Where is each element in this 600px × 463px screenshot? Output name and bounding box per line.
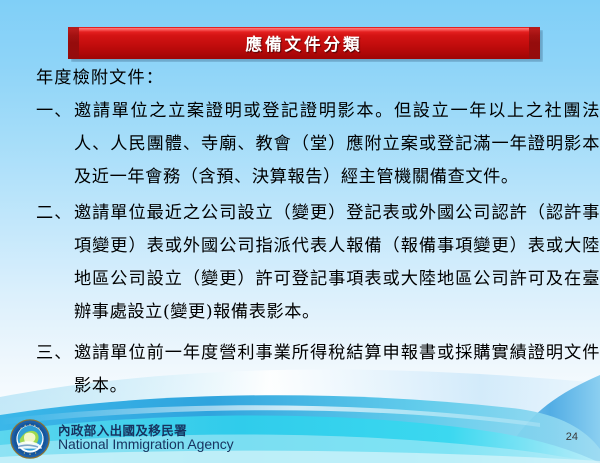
list-item: 三、 邀請單位前一年度營利事業所得稅結算申報書或採購實績證明文件影本。 bbox=[36, 337, 600, 403]
agency-emblem-icon bbox=[10, 419, 50, 459]
banner-right-bevel bbox=[529, 27, 540, 59]
list-item-text: 邀請單位之立案證明或登記證明影本。但設立一年以上之社團法人、人民團體、寺廟、教會… bbox=[74, 95, 600, 194]
page-title: 應備文件分類 bbox=[246, 31, 363, 55]
list-item-marker: 三、 bbox=[36, 337, 72, 370]
list-item-text: 邀請單位前一年度營利事業所得稅結算申報書或採購實績證明文件影本。 bbox=[74, 337, 600, 403]
list-item-text: 邀請單位最近之公司設立（變更）登記表或外國公司認許（認許事項變更）表或外國公司指… bbox=[74, 197, 600, 329]
page-number: 24 bbox=[566, 431, 578, 443]
agency-name-block: 內政部入出國及移民署 National Immigration Agency bbox=[58, 424, 234, 455]
body-lead: 年度檢附文件： bbox=[36, 62, 600, 95]
list-item-marker: 二、 bbox=[36, 197, 72, 230]
banner-left-bevel bbox=[68, 27, 79, 59]
spacer bbox=[0, 329, 600, 337]
agency-name-en: National Immigration Agency bbox=[58, 437, 234, 452]
banner-body: 應備文件分類 bbox=[68, 27, 540, 59]
slide-body: 年度檢附文件： 一、 邀請單位之立案證明或登記證明影本。但設立一年以上之社團法人… bbox=[0, 62, 600, 403]
footer: 內政部入出國及移民署 National Immigration Agency bbox=[10, 419, 234, 459]
slide-canvas: 應備文件分類 年度檢附文件： 一、 邀請單位之立案證明或登記證明影本。但設立一年… bbox=[0, 0, 600, 463]
list-item: 二、 邀請單位最近之公司設立（變更）登記表或外國公司認許（認許事項變更）表或外國… bbox=[36, 197, 600, 329]
agency-name-zh: 內政部入出國及移民署 bbox=[58, 424, 234, 438]
slide-title-banner: 應備文件分類 bbox=[68, 27, 540, 59]
list-item-marker: 一、 bbox=[36, 95, 72, 128]
list-item: 一、 邀請單位之立案證明或登記證明影本。但設立一年以上之社團法人、人民團體、寺廟… bbox=[36, 95, 600, 194]
